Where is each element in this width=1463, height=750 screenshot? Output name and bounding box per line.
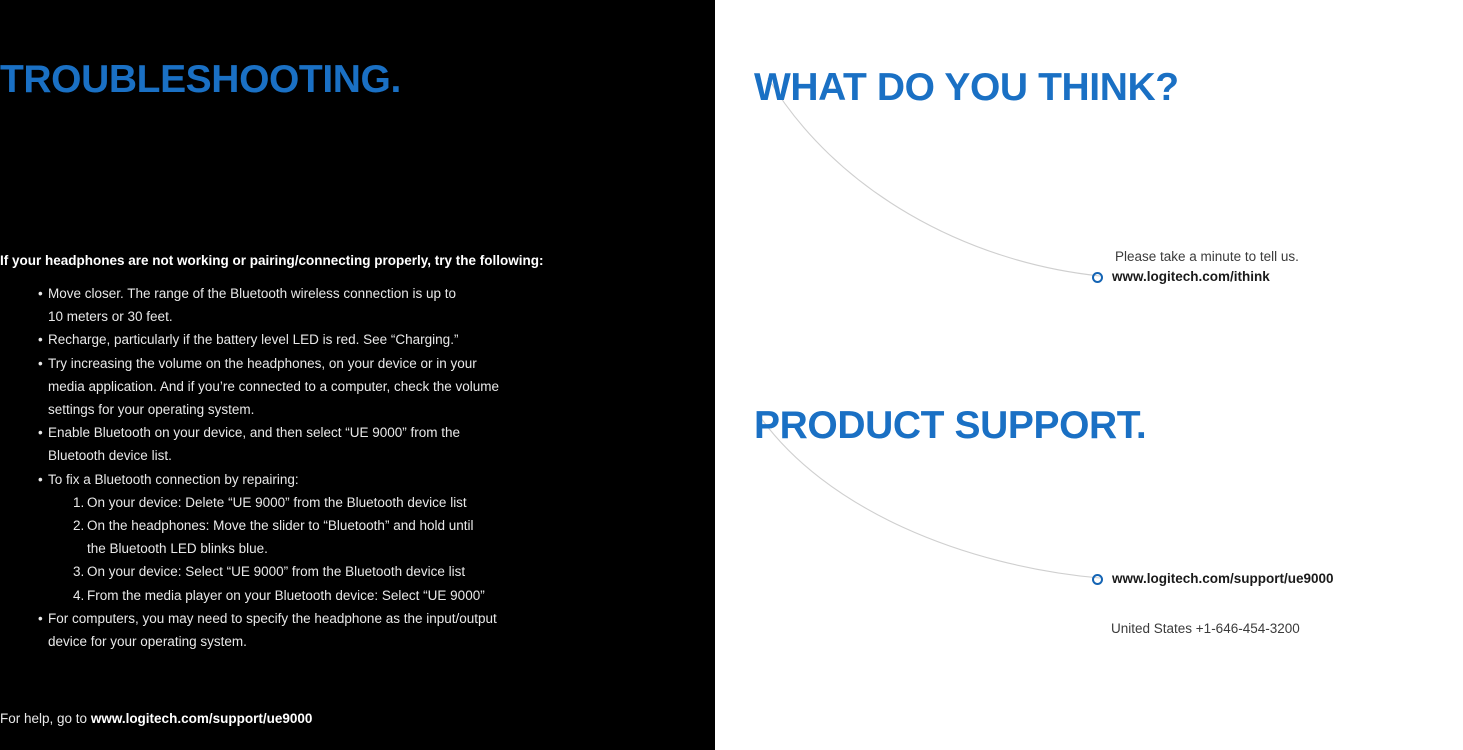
list-line-text: On your device: Delete “UE 9000” from th…	[87, 495, 467, 510]
support-phone-number: United States +1-646-454-3200	[1111, 619, 1300, 639]
list-line-text: On your device: Select “UE 9000” from th…	[87, 564, 465, 579]
numbered-line: 2.On the headphones: Move the slider to …	[38, 514, 698, 537]
list-line-text: media application. And if you’re connect…	[48, 379, 499, 394]
list-marker: 2.	[73, 514, 87, 537]
numbered-line: 4.From the media player on your Bluetoot…	[38, 584, 698, 607]
bullet-line: •Try increasing the volume on the headph…	[38, 352, 698, 375]
list-marker: •	[38, 328, 48, 351]
list-marker: •	[38, 352, 48, 375]
bullet-line: Bluetooth device list.	[38, 444, 698, 467]
list-marker: •	[38, 282, 48, 305]
troubleshooting-intro-text: If your headphones are not working or pa…	[0, 251, 544, 271]
numbered-line: the Bluetooth LED blinks blue.	[38, 537, 698, 560]
help-footer-url[interactable]: www.logitech.com/support/ue9000	[91, 711, 313, 726]
list-marker: 1.	[73, 491, 87, 514]
support-link-row[interactable]: www.logitech.com/support/ue9000	[1092, 570, 1334, 588]
feedback-url[interactable]: www.logitech.com/ithink	[1112, 268, 1270, 286]
list-marker: 3.	[73, 560, 87, 583]
list-marker: •	[38, 468, 48, 491]
page-title-troubleshooting: TROUBLESHOOTING.	[0, 57, 401, 103]
list-line-text: settings for your operating system.	[48, 402, 254, 417]
troubleshooting-list: •Move closer. The range of the Bluetooth…	[38, 282, 698, 653]
list-line-text: 10 meters or 30 feet.	[48, 309, 173, 324]
list-line-text: For computers, you may need to specify t…	[48, 611, 497, 626]
list-line-text: Bluetooth device list.	[48, 448, 172, 463]
circle-ring-icon	[1092, 272, 1103, 283]
list-line-text: Enable Bluetooth on your device, and the…	[48, 425, 460, 440]
list-marker: 4.	[73, 584, 87, 607]
bullet-line: media application. And if you’re connect…	[38, 375, 698, 398]
bullet-line: •Enable Bluetooth on your device, and th…	[38, 421, 698, 444]
contact-panel: WHAT DO YOU THINK? Please take a minute …	[715, 0, 1463, 750]
troubleshooting-panel: TROUBLESHOOTING. If your headphones are …	[0, 0, 715, 750]
document-page: TROUBLESHOOTING. If your headphones are …	[0, 0, 1463, 750]
list-line-text: Recharge, particularly if the battery le…	[48, 332, 458, 347]
bullet-line: device for your operating system.	[38, 630, 698, 653]
bullet-line: •To fix a Bluetooth connection by repair…	[38, 468, 698, 491]
numbered-line: 1.On your device: Delete “UE 9000” from …	[38, 491, 698, 514]
bullet-block-secondary: •For computers, you may need to specify …	[38, 607, 698, 653]
list-line-text: the Bluetooth LED blinks blue.	[87, 541, 268, 556]
list-line-text: Move closer. The range of the Bluetooth …	[48, 286, 456, 301]
list-line-text: From the media player on your Bluetooth …	[87, 588, 485, 603]
bullet-block-primary: •Move closer. The range of the Bluetooth…	[38, 282, 698, 491]
list-marker: •	[38, 421, 48, 444]
bullet-line: •Recharge, particularly if the battery l…	[38, 328, 698, 351]
feedback-link-row[interactable]: www.logitech.com/ithink	[1092, 268, 1270, 286]
bullet-line: settings for your operating system.	[38, 398, 698, 421]
bullet-line: •Move closer. The range of the Bluetooth…	[38, 282, 698, 305]
numbered-line: 3.On your device: Select “UE 9000” from …	[38, 560, 698, 583]
section-title-what-do-you-think: WHAT DO YOU THINK?	[754, 65, 1179, 111]
decorative-curves	[715, 0, 1463, 750]
feedback-note-text: Please take a minute to tell us.	[1115, 247, 1299, 267]
list-marker: •	[38, 607, 48, 630]
list-line-text: To fix a Bluetooth connection by repairi…	[48, 472, 299, 487]
list-line-text: device for your operating system.	[48, 634, 247, 649]
circle-ring-icon	[1092, 574, 1103, 585]
bullet-line: •For computers, you may need to specify …	[38, 607, 698, 630]
help-footer: For help, go to www.logitech.com/support…	[0, 709, 312, 729]
bullet-line: 10 meters or 30 feet.	[38, 305, 698, 328]
support-url[interactable]: www.logitech.com/support/ue9000	[1112, 570, 1334, 588]
list-line-text: Try increasing the volume on the headpho…	[48, 356, 477, 371]
help-footer-prefix: For help, go to	[0, 711, 91, 726]
numbered-sublist: 1.On your device: Delete “UE 9000” from …	[38, 491, 698, 607]
list-line-text: On the headphones: Move the slider to “B…	[87, 518, 474, 533]
section-title-product-support: PRODUCT SUPPORT.	[754, 403, 1146, 449]
